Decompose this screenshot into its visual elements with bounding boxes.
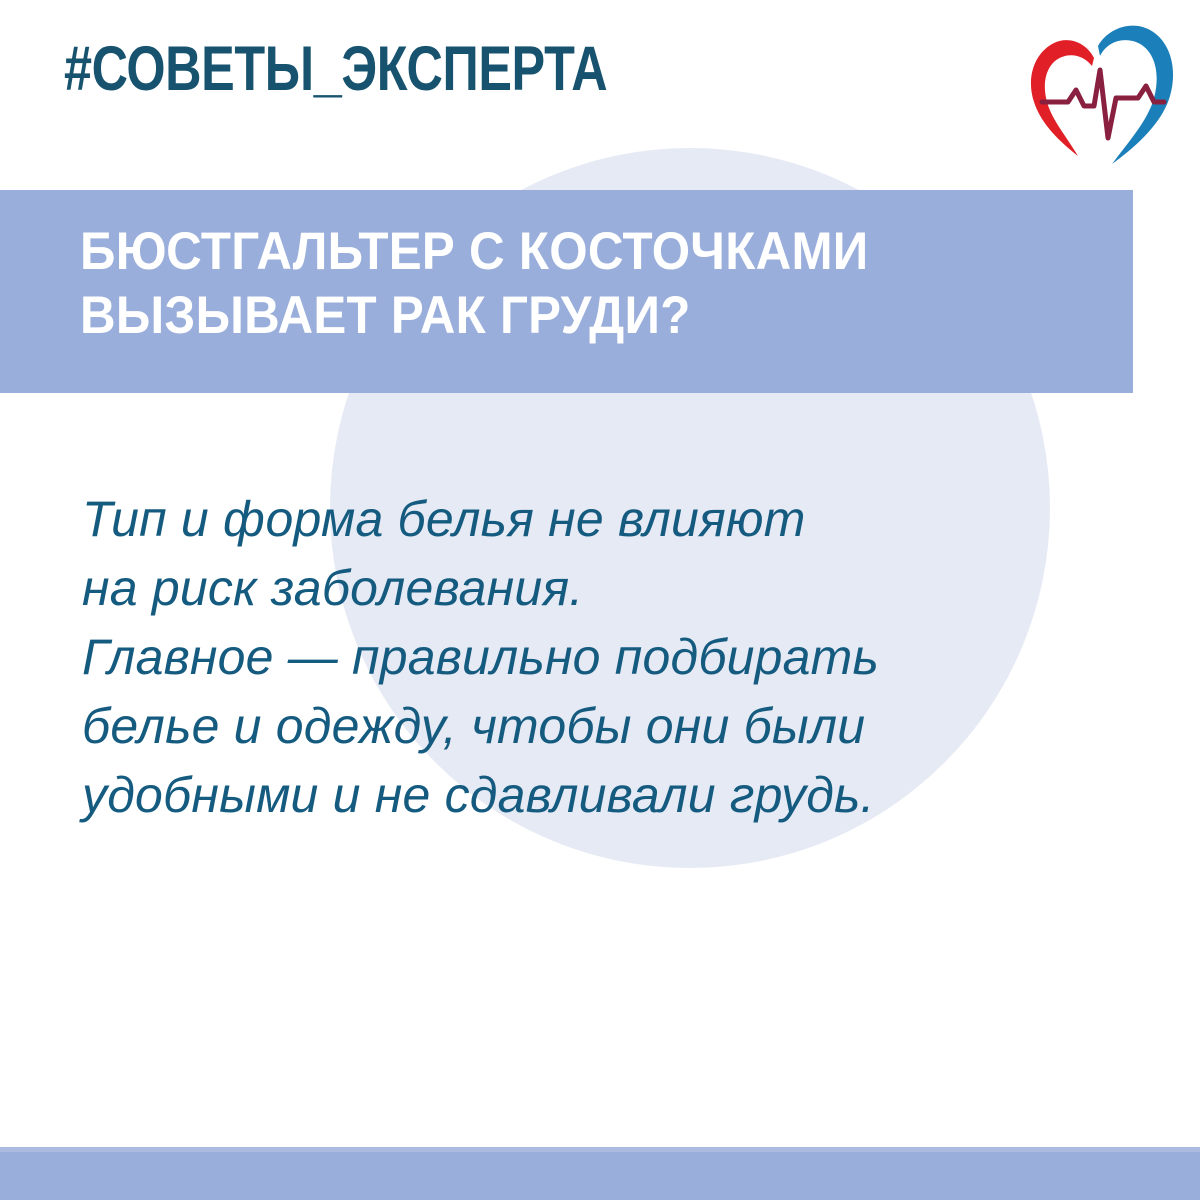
title-banner: БЮСТГАЛЬТЕР С КОСТОЧКАМИ ВЫЗЫВАЕТ РАК ГР… <box>0 190 1133 393</box>
page-title: БЮСТГАЛЬТЕР С КОСТОЧКАМИ ВЫЗЫВАЕТ РАК ГР… <box>80 220 1022 347</box>
hashtag-heading: #СОВЕТЫ_ЭКСПЕРТА <box>64 36 607 102</box>
poster-canvas: #СОВЕТЫ_ЭКСПЕРТА БЮСТГАЛЬТЕР С КОСТОЧКАМ… <box>0 0 1200 1200</box>
heart-ecg-logo-graphic <box>1012 16 1182 166</box>
logo-left-heart-stroke <box>1031 40 1094 156</box>
bottom-bar <box>0 1152 1200 1200</box>
logo-right-heart-stroke <box>1098 26 1173 164</box>
body-text: Тип и форма белья не влияют на риск забо… <box>82 485 1042 830</box>
heart-ecg-logo <box>1012 16 1182 166</box>
